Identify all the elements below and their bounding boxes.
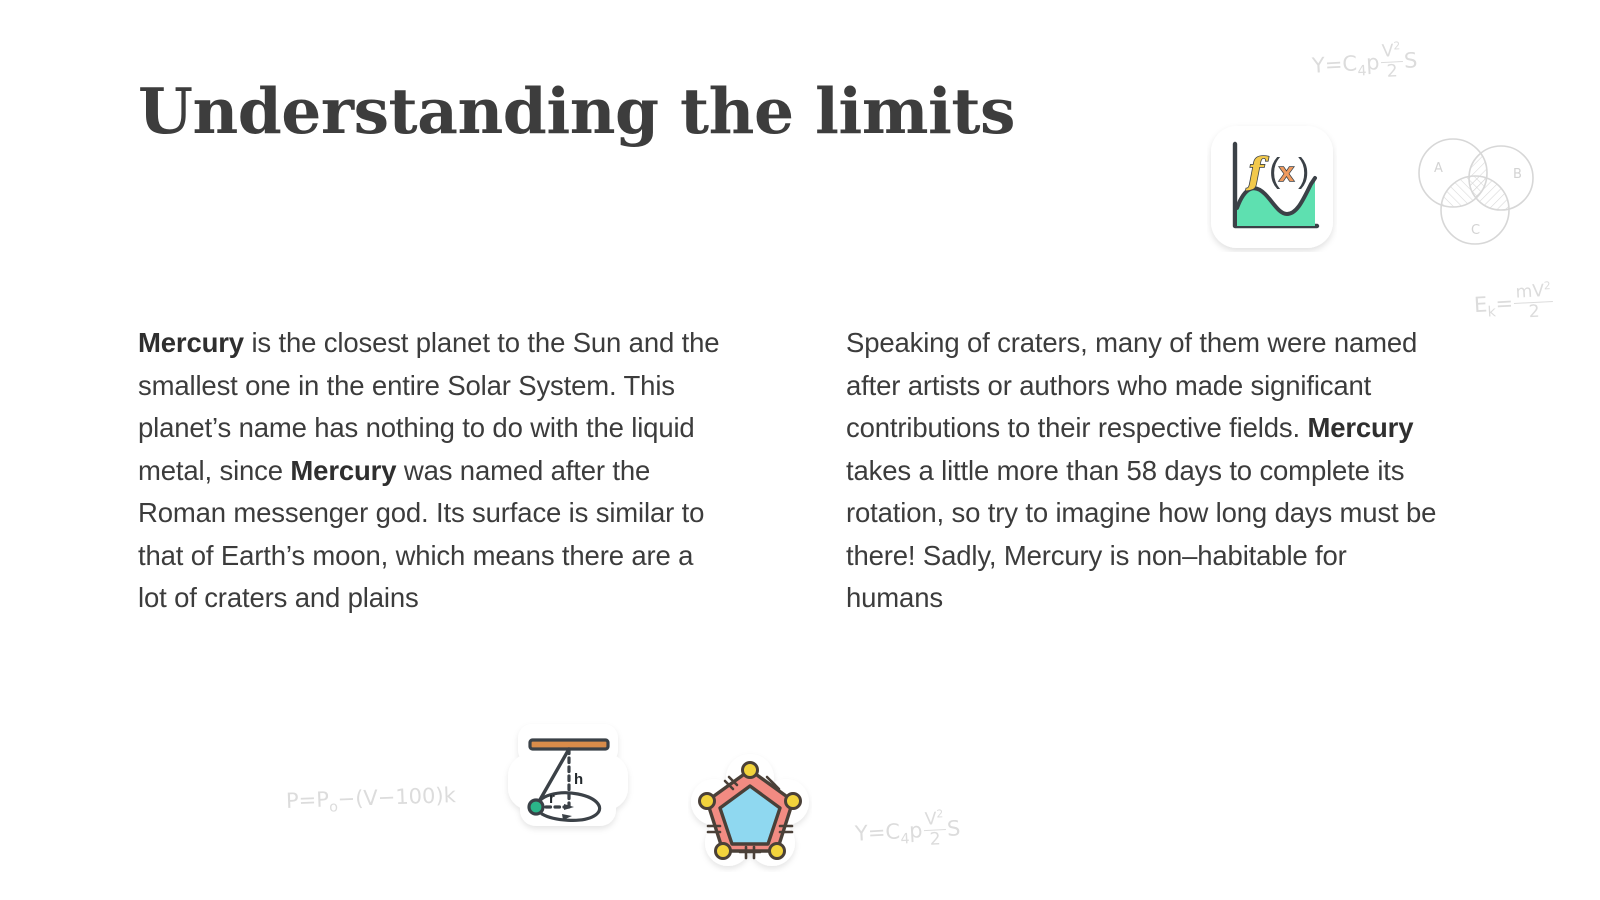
slide-canvas: Understanding the limits Mercury is the … (0, 0, 1600, 900)
emphasis-term: Mercury (290, 455, 396, 486)
svg-text:x: x (1279, 157, 1294, 187)
formula-kinetic-energy: Ek=mV22 (1473, 282, 1555, 326)
pentagon-geometry-sticker (688, 748, 812, 872)
function-graph-sticker: f ( x ) (1207, 122, 1337, 252)
paragraph-text: takes a little more than 58 days to comp… (846, 455, 1436, 614)
venn-diagram: A B C (1400, 128, 1550, 250)
body-paragraph-right: Speaking of craters, many of them were n… (846, 322, 1446, 620)
emphasis-term: Mercury (1307, 412, 1413, 443)
venn-label-b: B (1513, 167, 1522, 182)
pendulum-label-r: r (549, 790, 555, 807)
conical-pendulum-sticker: h r (502, 706, 634, 838)
page-title: Understanding the limits (138, 78, 1015, 144)
pendulum-label-h: h (574, 771, 583, 788)
venn-label-c: C (1471, 223, 1480, 238)
body-paragraph-left: Mercury is the closest planet to the Sun… (138, 322, 728, 620)
formula-pressure: P=Po−(V−100)k (286, 783, 457, 817)
svg-text:): ) (1298, 152, 1309, 190)
emphasis-term: Mercury (138, 327, 244, 358)
formula-drag-equation-top: Y=C4pV22S (1311, 41, 1418, 86)
venn-label-a: A (1434, 161, 1443, 176)
formula-drag-equation-bottom: Y=C4pV22S (854, 809, 961, 854)
